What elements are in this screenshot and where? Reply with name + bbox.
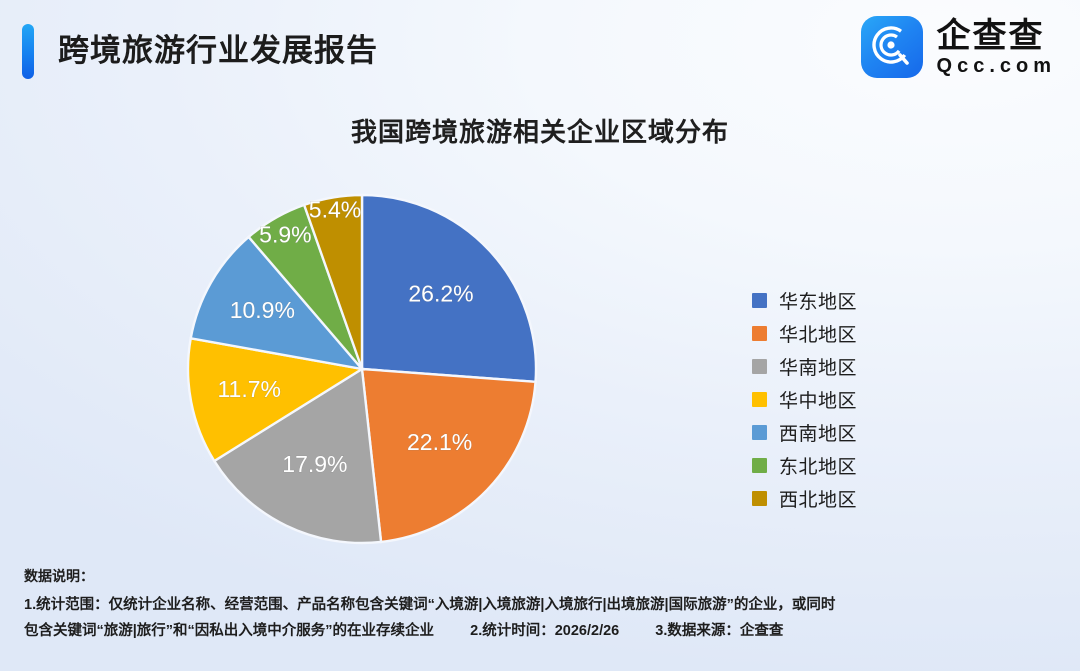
footnote-heading: 数据说明：	[24, 565, 1060, 587]
legend-item[interactable]: 西北地区	[752, 482, 922, 515]
footnote-scope-cont: 包含关键词“旅游|旅行”和“因私出入境中介服务”的在业存续企业	[24, 623, 434, 639]
pie-slice[interactable]	[362, 369, 536, 542]
legend-item-label: 西北地区	[779, 485, 857, 512]
legend-item[interactable]: 华北地区	[752, 317, 922, 350]
legend-item[interactable]: 华中地区	[752, 383, 922, 416]
footnote-line-1: 1.统计范围：仅统计企业名称、经营范围、产品名称包含关键词“入境游|入境旅游|入…	[24, 592, 1060, 618]
qcc-logo-mark-icon	[861, 16, 923, 78]
legend-item[interactable]: 华南地区	[752, 350, 922, 383]
pie-slice-label: 22.1%	[407, 429, 472, 455]
pie-slice-label: 26.2%	[408, 281, 473, 307]
legend-swatch-icon	[752, 458, 767, 473]
legend-swatch-icon	[752, 359, 767, 374]
legend-swatch-icon	[752, 425, 767, 440]
legend-item-label: 华中地区	[779, 386, 857, 413]
legend-swatch-icon	[752, 326, 767, 341]
legend-swatch-icon	[752, 392, 767, 407]
pie-slice-label: 5.4%	[309, 196, 361, 222]
legend-item-label: 华东地区	[779, 287, 857, 314]
pie-chart: 26.2%22.1%17.9%11.7%10.9%5.9%5.4%	[186, 193, 538, 545]
page-header: 跨境旅游行业发展报告 企查查 Qcc.com	[0, 0, 1080, 100]
pie-slice-label: 10.9%	[230, 297, 295, 323]
legend-swatch-icon	[752, 491, 767, 506]
qcc-logo-en-name: Qcc.com	[937, 55, 1056, 77]
pie-chart-svg: 26.2%22.1%17.9%11.7%10.9%5.9%5.4%	[186, 193, 538, 545]
title-accent-bar	[22, 24, 34, 79]
legend-item[interactable]: 西南地区	[752, 416, 922, 449]
qcc-logo-cn-name: 企查查	[937, 18, 1056, 54]
legend-item[interactable]: 东北地区	[752, 449, 922, 482]
legend-item-label: 东北地区	[779, 452, 857, 479]
qcc-logo[interactable]: 企查查 Qcc.com	[861, 16, 1056, 78]
pie-slice-group	[188, 195, 536, 543]
chart-title: 我国跨境旅游相关企业区域分布	[0, 112, 1080, 149]
pie-slice-label: 5.9%	[259, 221, 311, 247]
footnote-line-2: 包含关键词“旅游|旅行”和“因私出入境中介服务”的在业存续企业 2.统计时间：2…	[24, 618, 1060, 644]
footnote: 数据说明： 1.统计范围：仅统计企业名称、经营范围、产品名称包含关键词“入境游|…	[24, 565, 1060, 644]
chart-legend: 华东地区华北地区华南地区华中地区西南地区东北地区西北地区	[752, 284, 922, 515]
footnote-stat-time: 2.统计时间：2026/2/26	[470, 623, 619, 639]
qcc-logo-text: 企查查 Qcc.com	[937, 18, 1056, 77]
legend-item-label: 华南地区	[779, 353, 857, 380]
pie-slice-label: 17.9%	[282, 451, 347, 477]
legend-item-label: 华北地区	[779, 320, 857, 347]
legend-swatch-icon	[752, 293, 767, 308]
legend-item-label: 西南地区	[779, 419, 857, 446]
report-page: 跨境旅游行业发展报告 企查查 Qcc.com 我国跨境旅游相关企业区域分布 26…	[0, 0, 1080, 671]
page-title: 跨境旅游行业发展报告	[58, 23, 378, 78]
legend-item[interactable]: 华东地区	[752, 284, 922, 317]
footnote-data-source: 3.数据来源：企查查	[655, 623, 783, 639]
pie-slice-label: 11.7%	[217, 376, 281, 402]
